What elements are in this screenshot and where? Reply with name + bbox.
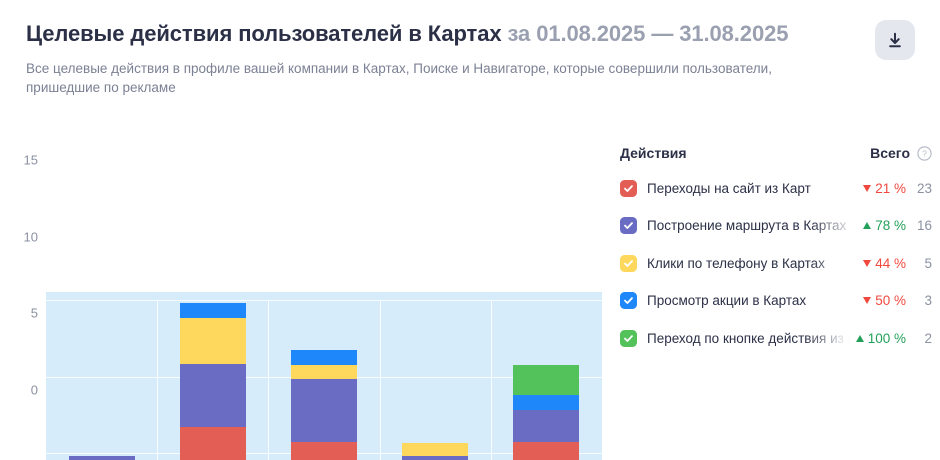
chart: 15 10 5 0 28 июля3 августа4–10 августа11… bbox=[0, 140, 620, 440]
bar-slot[interactable] bbox=[46, 300, 157, 460]
legend-percent: 78 % bbox=[875, 218, 906, 233]
legend-header-total: Всего bbox=[870, 145, 910, 161]
legend-header-actions: Действия bbox=[620, 145, 870, 161]
bar-segment[interactable] bbox=[180, 318, 246, 364]
legend-percent: 21 % bbox=[875, 181, 906, 196]
legend-checkbox[interactable] bbox=[620, 330, 637, 347]
legend-total: 5 bbox=[914, 256, 932, 271]
bar-segment[interactable] bbox=[180, 364, 246, 427]
bar-segment[interactable] bbox=[513, 442, 579, 460]
y-tick-5: 5 bbox=[31, 306, 38, 321]
trend-up-icon bbox=[863, 222, 871, 229]
help-circle-icon[interactable]: ? bbox=[917, 146, 932, 161]
bar-segment[interactable] bbox=[180, 427, 246, 460]
y-tick-15: 15 bbox=[24, 153, 38, 168]
legend-label: Переходы на сайт из Карт bbox=[647, 181, 857, 196]
bar-segment[interactable] bbox=[291, 442, 357, 460]
legend-checkbox[interactable] bbox=[620, 292, 637, 309]
legend-label: Клики по телефону в Картах bbox=[647, 256, 857, 271]
legend-percent: 50 % bbox=[875, 293, 906, 308]
bar-segment[interactable] bbox=[513, 395, 579, 410]
bar-segment[interactable] bbox=[291, 365, 357, 379]
chart-card: Целевые действия пользователей в Картах … bbox=[0, 0, 940, 460]
stacked-bar[interactable] bbox=[291, 350, 357, 460]
legend: Действия Всего ? Переходы на сайт из Кар… bbox=[620, 142, 932, 364]
legend-label: Построение маршрута в Картах bbox=[647, 218, 857, 233]
legend-total: 2 bbox=[914, 331, 932, 346]
bar-segment[interactable] bbox=[402, 456, 468, 460]
legend-metric: 44 %5 bbox=[863, 256, 932, 271]
trend-down-icon bbox=[863, 185, 871, 192]
bar-segment[interactable] bbox=[291, 350, 357, 365]
legend-checkbox[interactable] bbox=[620, 217, 637, 234]
page-title-main: Целевые действия пользователей в Картах bbox=[26, 21, 502, 46]
legend-total: 16 bbox=[914, 218, 932, 233]
legend-metric: 100 %2 bbox=[856, 331, 932, 346]
legend-percent: 44 % bbox=[875, 256, 906, 271]
legend-total: 23 bbox=[914, 181, 932, 196]
legend-row[interactable]: Построение маршрута в Картах78 %16 bbox=[620, 214, 932, 238]
svg-text:?: ? bbox=[922, 148, 927, 158]
bar-slot[interactable] bbox=[380, 300, 491, 460]
legend-row[interactable]: Клики по телефону в Картах44 %5 bbox=[620, 251, 932, 275]
legend-checkbox[interactable] bbox=[620, 255, 637, 272]
stacked-bar[interactable] bbox=[402, 443, 468, 460]
bar-segment[interactable] bbox=[513, 410, 579, 441]
legend-rows: Переходы на сайт из Карт21 %23Построение… bbox=[620, 176, 932, 350]
download-button[interactable] bbox=[875, 20, 915, 60]
bar-segment[interactable] bbox=[69, 456, 135, 460]
legend-checkbox[interactable] bbox=[620, 180, 637, 197]
y-axis: 15 10 5 0 bbox=[0, 140, 46, 390]
bar-slot[interactable] bbox=[491, 300, 602, 460]
legend-row[interactable]: Просмотр акции в Картах50 %3 bbox=[620, 289, 932, 313]
bar-group bbox=[46, 300, 602, 460]
legend-label: Просмотр акции в Картах bbox=[647, 293, 857, 308]
bar-segment[interactable] bbox=[402, 443, 468, 457]
stacked-bar[interactable] bbox=[513, 365, 579, 460]
bar-segment[interactable] bbox=[513, 365, 579, 395]
page-title-date-range: за 01.08.2025 — 31.08.2025 bbox=[508, 21, 789, 46]
page-subtitle: Все целевые действия в профиле вашей ком… bbox=[26, 59, 816, 97]
stacked-bar[interactable] bbox=[69, 456, 135, 460]
trend-down-icon bbox=[863, 260, 871, 267]
bar-segment[interactable] bbox=[291, 379, 357, 442]
page-title: Целевые действия пользователей в Картах … bbox=[26, 20, 856, 48]
bar-slot[interactable] bbox=[157, 300, 268, 460]
legend-metric: 21 %23 bbox=[863, 181, 932, 196]
y-tick-0: 0 bbox=[31, 383, 38, 398]
trend-up-icon bbox=[856, 335, 864, 342]
legend-header: Действия Всего ? bbox=[620, 142, 932, 164]
legend-total: 3 bbox=[914, 293, 932, 308]
bar-segment[interactable] bbox=[180, 303, 246, 318]
trend-down-icon bbox=[863, 297, 871, 304]
bar-slot[interactable] bbox=[268, 300, 379, 460]
y-tick-10: 10 bbox=[24, 229, 38, 244]
legend-row[interactable]: Переходы на сайт из Карт21 %23 bbox=[620, 176, 932, 200]
legend-label: Переход по кнопке действия из Карт bbox=[647, 331, 850, 346]
stacked-bar[interactable] bbox=[180, 303, 246, 460]
legend-metric: 50 %3 bbox=[863, 293, 932, 308]
legend-row[interactable]: Переход по кнопке действия из Карт100 %2 bbox=[620, 326, 932, 350]
legend-percent: 100 % bbox=[868, 331, 906, 346]
legend-metric: 78 %16 bbox=[863, 218, 932, 233]
header: Целевые действия пользователей в Картах … bbox=[26, 20, 856, 97]
download-icon bbox=[887, 32, 903, 49]
